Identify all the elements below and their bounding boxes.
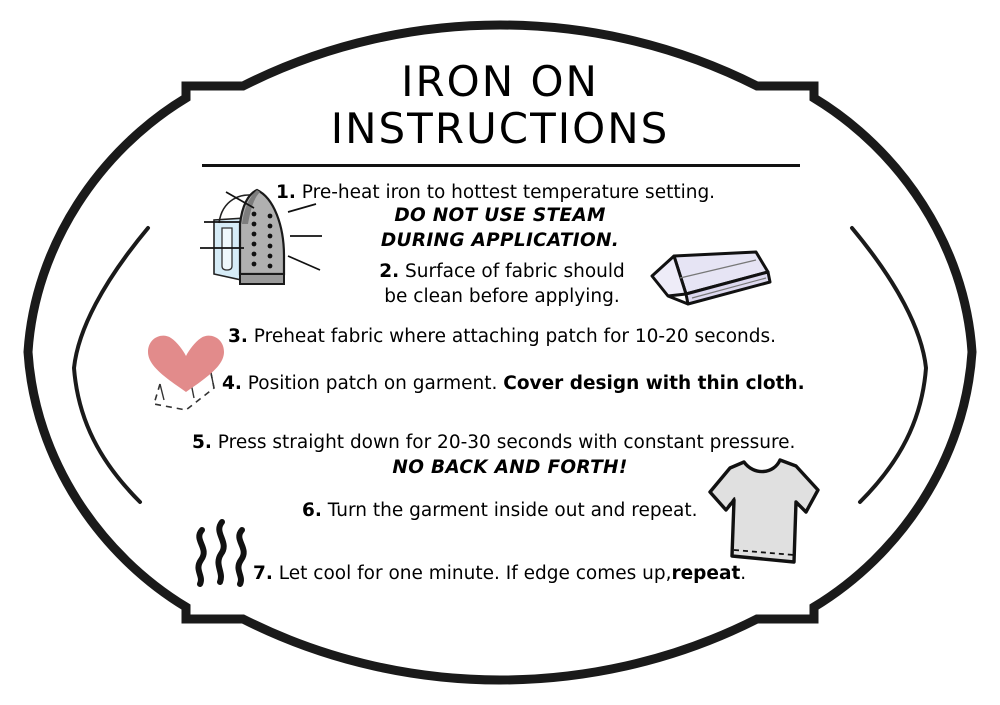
step-5-text: Press straight down for 20-30 seconds wi… [218, 432, 796, 453]
heat-wave-3 [238, 530, 243, 584]
folded-fabric-illustration [644, 248, 776, 310]
heat-wave-2 [218, 522, 223, 582]
step-2-text-1: Surface of fabric should [405, 261, 625, 282]
step-7-text-after: . [740, 563, 746, 584]
title-line-1: IRON ON [200, 58, 800, 105]
step-2-number: 2. [379, 261, 399, 282]
step-1-emphasis-line-2: DURING APPLICATION. [330, 228, 670, 253]
step-4-text: Position patch on garment. [248, 373, 498, 394]
step-3-text: Preheat fabric where attaching patch for… [254, 326, 776, 347]
step-1-line: 1. Pre-heat iron to hottest temperature … [276, 180, 715, 205]
step-5-emphasis: NO BACK AND FORTH! [192, 455, 828, 480]
step-4-number: 4. [222, 373, 242, 394]
iron-tank-window [222, 228, 232, 270]
heat-wave-1 [198, 530, 203, 584]
step-7-bold-text: repeat [672, 563, 741, 584]
step-3-line: 3. Preheat fabric where attaching patch … [228, 324, 776, 349]
step-4-line: 4. Position patch on garment. Cover desi… [222, 371, 805, 396]
step-1-number: 1. [276, 182, 296, 203]
step-5-line: 5. Press straight down for 20-30 seconds… [192, 430, 795, 455]
step-2-line-2: be clean before applying. [372, 284, 632, 309]
iron-base [240, 274, 284, 284]
step-4-bold-text: Cover design with thin cloth. [503, 373, 804, 394]
fabric-edge [668, 296, 688, 304]
step-3-number: 3. [228, 326, 248, 347]
step-6-number: 6. [302, 500, 322, 521]
step-6-line: 6. Turn the garment inside out and repea… [302, 498, 697, 523]
step-1-text: Pre-heat iron to hottest temperature set… [302, 182, 715, 203]
heart-patch-illustration [138, 326, 238, 414]
title-line-2: INSTRUCTIONS [200, 105, 800, 152]
step-5-number: 5. [192, 432, 212, 453]
title-divider [202, 164, 800, 167]
heat-waves-illustration [190, 518, 258, 590]
step-1-emphasis-line-1: DO NOT USE STEAM [330, 203, 670, 228]
step-7-text-before: Let cool for one minute. If edge comes u… [279, 563, 672, 584]
step-7-line: 7. Let cool for one minute. If edge come… [253, 561, 746, 586]
step-7-number: 7. [253, 563, 273, 584]
step-6-text: Turn the garment inside out and repeat. [328, 500, 698, 521]
step-2-line-1: 2. Surface of fabric should [372, 259, 632, 284]
page-title: IRON ON INSTRUCTIONS [200, 58, 800, 152]
iron-on-instructions-card: IRON ON INSTRUCTIONS [0, 0, 1000, 705]
